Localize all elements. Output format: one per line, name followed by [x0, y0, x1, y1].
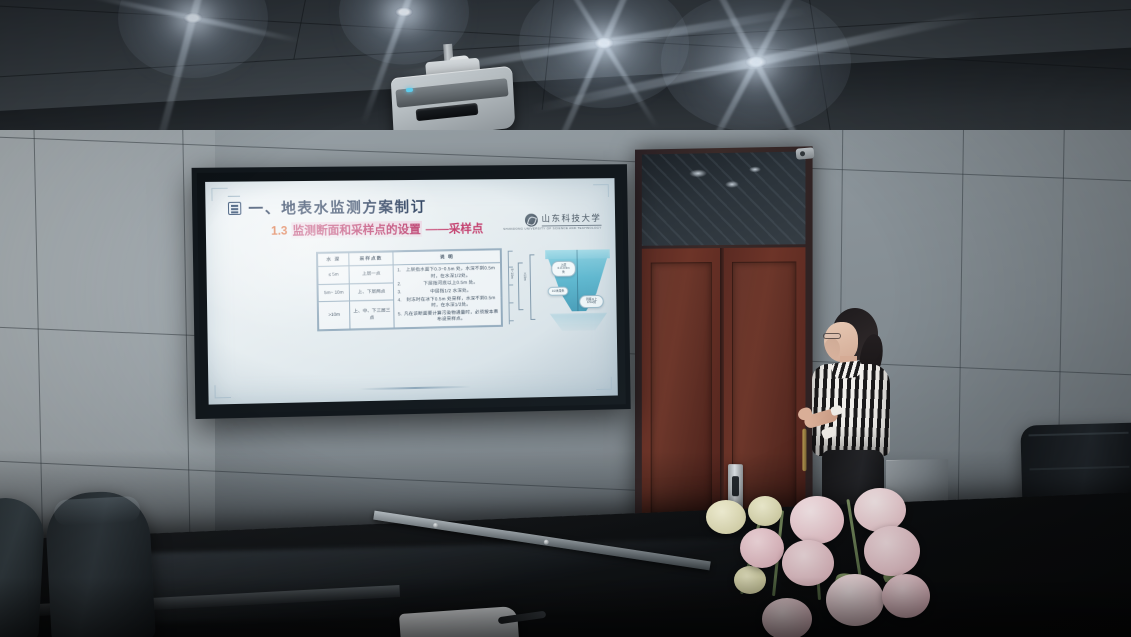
note-item: 凡在该断面要计算污染物通量时，必须按本表布设采样点。	[403, 309, 499, 324]
list-book-icon	[228, 202, 241, 215]
subtitle-number: 1.3	[271, 224, 288, 237]
flower-bloom-pink	[762, 598, 812, 637]
flower-bloom-cream	[748, 496, 782, 526]
flower-bloom-pink	[790, 496, 844, 544]
transom-reflection-grid	[642, 151, 806, 245]
river-reflection	[544, 313, 613, 336]
flower-bloom-pink	[854, 488, 906, 532]
cell-notes: 上层指水面下0.3~0.5m 处，水深不到0.5m 时，在水深1/2处。 下层指…	[393, 263, 501, 328]
slide-corner-bracket	[211, 188, 228, 201]
flower-bloom-pink	[782, 540, 834, 586]
slide-corner-bracket	[596, 377, 612, 390]
diagram-callout-middle: 1/2水深处	[548, 287, 569, 296]
slide-footer-divider	[359, 386, 471, 390]
cell-depth: 5m~ 10m	[318, 284, 350, 302]
sampling-point-table: 水 深 采样点数 说 明 ≤ 5m 上层一点 上	[316, 248, 503, 331]
slide-title: 一、地表水监测方案制订	[248, 196, 427, 219]
depth-brace-shallow	[518, 262, 524, 310]
cell-depth: >10m	[318, 301, 350, 330]
flower-bloom-pink	[882, 574, 930, 618]
table-strip-screw	[543, 539, 549, 545]
cell-depth: ≤ 5m	[318, 266, 350, 284]
depth-scale-ticks	[508, 251, 515, 325]
table-header-depth: 水 深	[318, 253, 350, 267]
door-transom-window	[642, 151, 806, 245]
screen-surface: 一、地表水监测方案制订 1.3 监测断面和采样点的设置 ——采样点 山东科技大学…	[197, 169, 626, 414]
conference-room-photo: 一、地表水监测方案制订 1.3 监测断面和采样点的设置 ——采样点 山东科技大学…	[0, 0, 1131, 637]
university-emblem-icon	[525, 213, 538, 226]
slide-corner-bracket	[214, 385, 231, 398]
subtitle-tail: ——采样点	[426, 220, 484, 237]
flower-bloom-pink	[826, 574, 884, 626]
note-item: 封冻时在冰下0.5m 处采样，水深不到0.5m 时，在水深1/2处。	[403, 295, 499, 310]
note-item: 上层指水面下0.3~0.5m 处，水深不到0.5m 时，在水深1/2处。	[403, 265, 499, 280]
cell-count: 上、中、下三层三点	[350, 300, 394, 329]
wall-sensor	[796, 147, 815, 160]
face-shadow	[824, 338, 840, 360]
depth-label-deep: >10m	[523, 272, 527, 280]
depth-scale-group: 5~10m >10m	[508, 254, 543, 320]
ceiling-seam	[293, 0, 307, 60]
table-strip-screw	[433, 523, 439, 529]
table-header-count: 采样点数	[349, 252, 393, 266]
subtitle-highlight: 监测断面和采样点的设置	[291, 221, 421, 239]
depth-label-shallow: 5~10m	[510, 269, 514, 279]
university-name: 山东科技大学	[541, 212, 601, 227]
depth-brace-deep	[529, 254, 535, 320]
table-row: ≤ 5m 上层一点 上层指水面下0.3~0.5m 处，水深不到0.5m 时，在水…	[318, 263, 501, 285]
flower-bloom-pink	[740, 528, 784, 568]
projection-screen[interactable]: 一、地表水监测方案制订 1.3 监测断面和采样点的设置 ——采样点 山东科技大学…	[192, 164, 631, 419]
cell-count: 上、下层两点	[349, 283, 393, 302]
flower-bloom-pink	[864, 526, 920, 576]
glasses	[823, 333, 841, 339]
diagram-callout-bottom: 河底以上 0.5m处	[579, 295, 604, 308]
presentation-slide: 一、地表水监测方案制订 1.3 监测断面和采样点的设置 ——采样点 山东科技大学…	[205, 178, 618, 404]
cell-count: 上层一点	[349, 265, 393, 284]
diagram-callout-upper: 上层 0.3~0.5m 处	[551, 261, 576, 278]
chair-far-left[interactable]	[0, 496, 46, 637]
flower-bloom-cream	[706, 500, 746, 534]
slide-title-rule	[228, 196, 240, 197]
university-logo: 山东科技大学	[525, 212, 602, 227]
chair-left-foreground[interactable]	[44, 489, 156, 637]
flower-bouquet-foreground	[686, 470, 936, 637]
flower-bloom-cream	[734, 566, 766, 594]
river-cross-section-diagram: 5~10m >10m 上层 0.3~0.5m 处 1/2水深处 河底以上 0.5…	[508, 243, 613, 340]
